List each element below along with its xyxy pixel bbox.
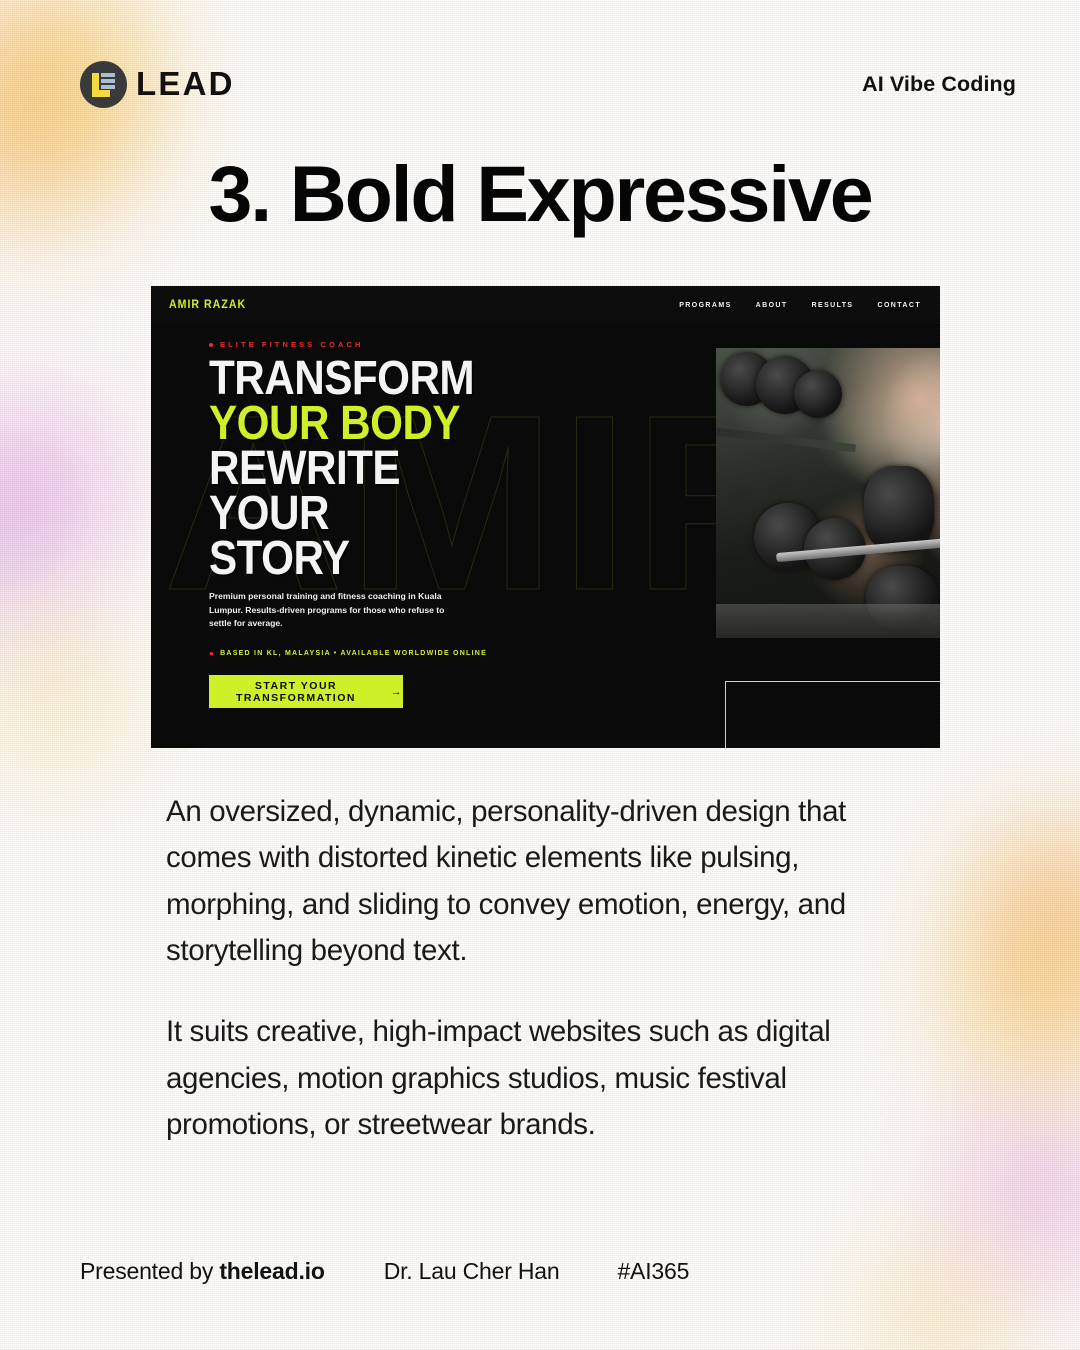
mockup-nav-item-contact[interactable]: CONTACT (878, 302, 922, 309)
description-paragraph-2: It suits creative, high-impact websites … (166, 1009, 926, 1148)
description-paragraph-1: An oversized, dynamic, personality-drive… (166, 789, 926, 974)
mockup-hero-cta-button[interactable]: START YOUR TRANSFORMATION → (209, 675, 403, 708)
slide-footer: Presented by thelead.io Dr. Lau Cher Han… (80, 1258, 689, 1285)
presented-by: Presented by thelead.io (80, 1258, 325, 1285)
slide-canvas: LEAD AI Vibe Coding 3. Bold Expressive A… (0, 0, 1080, 1350)
slide-header: LEAD AI Vibe Coding (80, 56, 1016, 112)
mockup-nav-item-results[interactable]: RESULTS (812, 302, 854, 309)
page-title: 3. Bold Expressive (0, 152, 1080, 236)
mockup-nav-links: PROGRAMS ABOUT RESULTS CONTACT (679, 302, 921, 309)
mockup-headline-line-2: YOUR BODY (209, 401, 499, 446)
header-tagline: AI Vibe Coding (862, 72, 1016, 97)
arrow-right-icon: → (391, 686, 403, 698)
presented-by-prefix: Presented by (80, 1258, 219, 1284)
mockup-hero-location-meta: ● BASED IN KL, MALAYSIA • AVAILABLE WORL… (209, 649, 487, 658)
description-block: An oversized, dynamic, personality-drive… (166, 789, 926, 1148)
bullet-dot-icon (209, 343, 213, 347)
location-pin-icon: ● (209, 649, 215, 658)
mockup-headline-line-3: REWRITE YOUR (209, 446, 499, 536)
mockup-headline-line-1: TRANSFORM (209, 356, 499, 401)
mockup-hero-headline: TRANSFORM YOUR BODY REWRITE YOUR STORY (209, 356, 499, 582)
mockup-brand-name[interactable]: AMIR RAZAK (169, 299, 246, 311)
mockup-hero-eyebrow-label: ELITE FITNESS COACH (220, 340, 364, 349)
mockup-hero-eyebrow: ELITE FITNESS COACH (209, 340, 364, 349)
website-mockup-preview: AMIR RAZAK AMIR RAZAK PROGRAMS ABOUT RES… (151, 286, 940, 748)
presented-by-brand[interactable]: thelead.io (219, 1258, 324, 1284)
brand-lockup: LEAD (80, 61, 235, 108)
mockup-cta-label: START YOUR TRANSFORMATION (209, 680, 383, 704)
gym-dumbbell-photo (716, 348, 940, 638)
speaker-name: Dr. Lau Cher Han (384, 1258, 560, 1285)
mockup-hero-paragraph: Premium personal training and fitness co… (209, 590, 464, 631)
mockup-hero-section: ELITE FITNESS COACH TRANSFORM YOUR BODY … (151, 324, 940, 748)
mockup-navbar: AMIR RAZAK PROGRAMS ABOUT RESULTS CONTAC… (151, 286, 940, 324)
mockup-nav-item-about[interactable]: ABOUT (756, 302, 788, 309)
mockup-hero-meta-label: BASED IN KL, MALAYSIA • AVAILABLE WORLDW… (220, 650, 487, 657)
mockup-nav-item-programs[interactable]: PROGRAMS (679, 302, 731, 309)
lead-logo-icon (80, 61, 127, 108)
hashtag: #AI365 (617, 1258, 689, 1285)
mockup-headline-line-4: STORY (209, 536, 499, 581)
brand-name: LEAD (136, 65, 235, 103)
